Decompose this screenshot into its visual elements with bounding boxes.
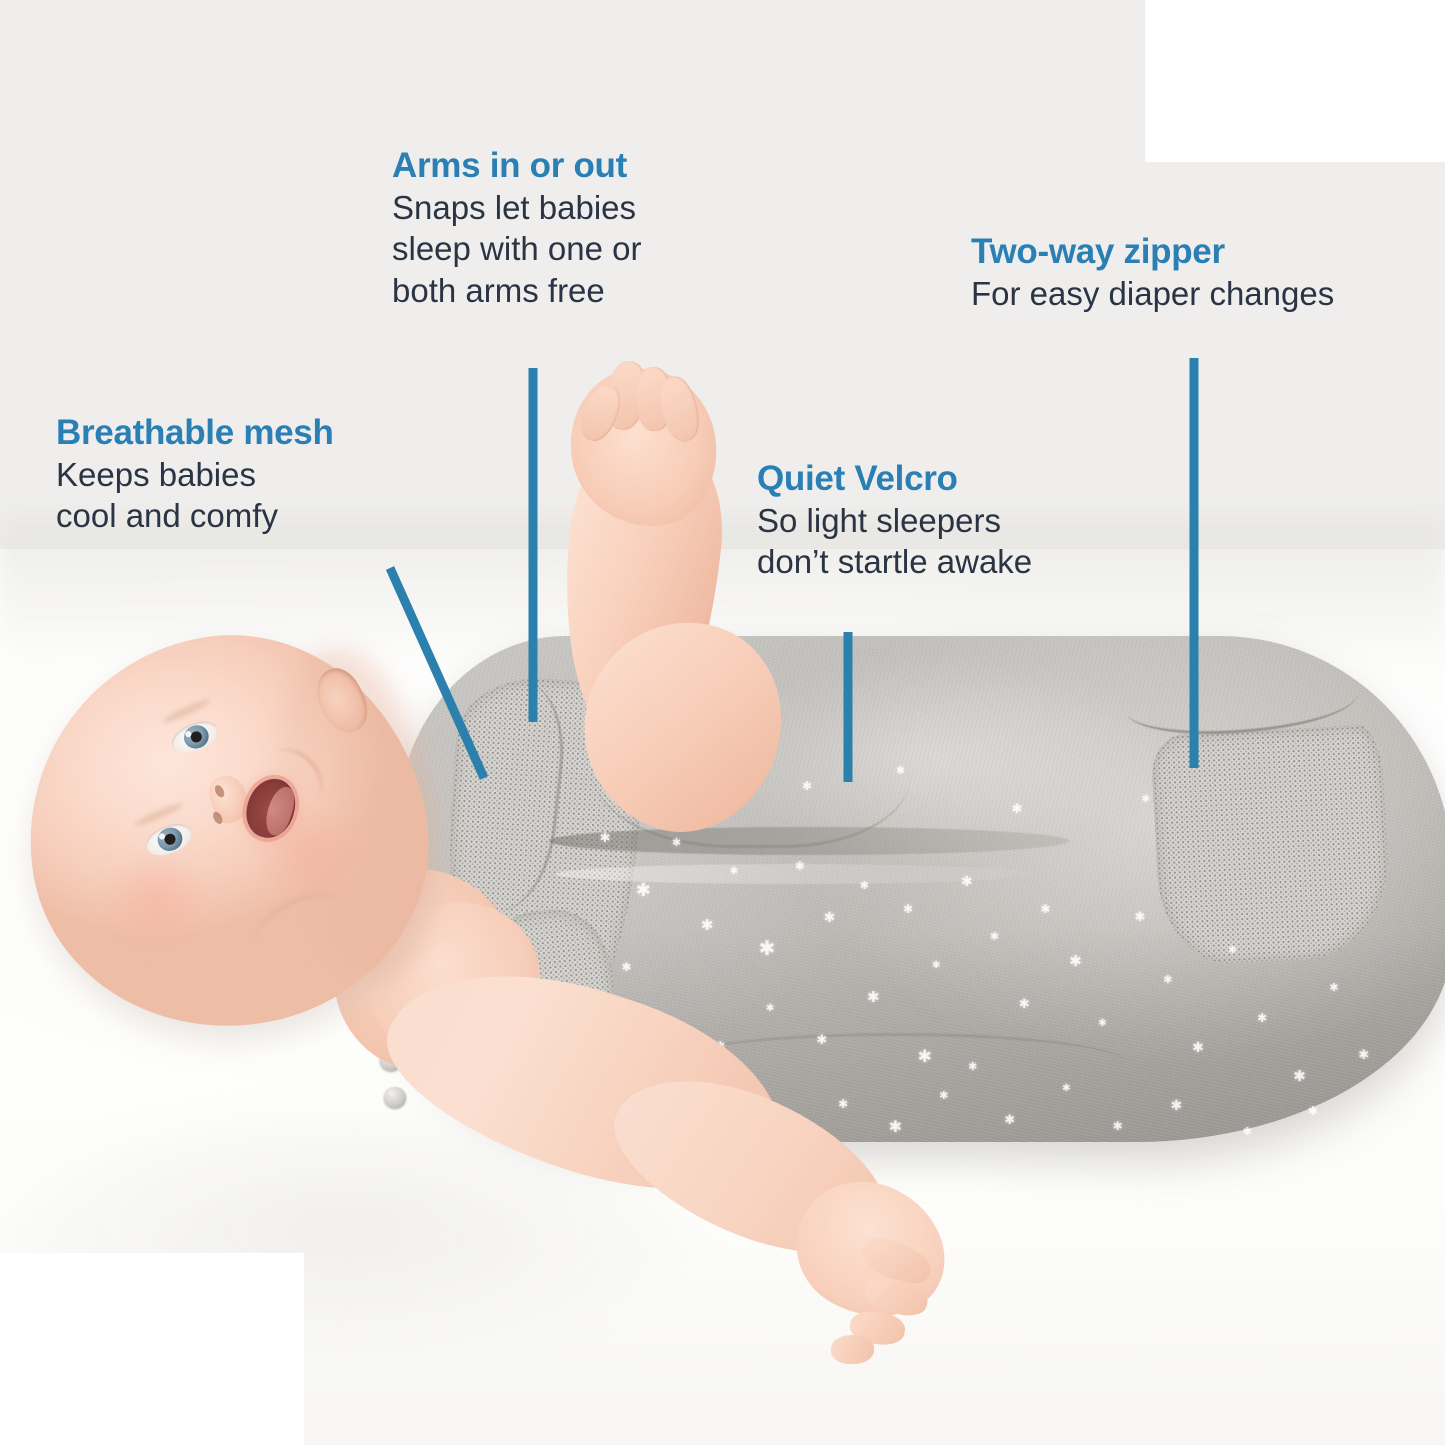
star-motif: ✱	[816, 1033, 827, 1046]
callout-line: For easy diaper changes	[971, 275, 1334, 312]
callout-line: both arms free	[392, 272, 605, 309]
star-motif: ✱	[1228, 946, 1236, 956]
star-motif: ✱	[939, 1091, 948, 1102]
star-motif: ✱	[759, 939, 776, 959]
star-motif: ✱	[1192, 1040, 1204, 1054]
star-motif: ✱	[1257, 1012, 1267, 1024]
star-motif: ✱	[1004, 1113, 1015, 1126]
callout-quiet-velcro: Quiet Velcro So light sleepers don’t sta…	[757, 459, 1032, 583]
star-motif: ✱	[730, 867, 738, 877]
star-motif: ✱	[1113, 1120, 1123, 1132]
star-motif: ✱	[672, 838, 681, 849]
star-motif: ✱	[1142, 795, 1150, 805]
callout-title-breathable-mesh: Breathable mesh	[56, 413, 334, 452]
star-motif: ✱	[838, 1098, 848, 1110]
star-motif: ✱	[961, 874, 973, 888]
star-motif: ✱	[766, 1004, 774, 1014]
callout-breathable-mesh: Breathable mesh Keeps babies cool and co…	[56, 413, 334, 537]
star-motif: ✱	[1019, 997, 1030, 1010]
star-motif: ✱	[918, 1048, 932, 1065]
snap-fastener	[384, 1087, 406, 1109]
waist-seam	[549, 827, 1069, 856]
star-motif: ✱	[860, 881, 869, 892]
callout-title-quiet-velcro: Quiet Velcro	[757, 459, 1032, 498]
star-motif: ✱	[1163, 975, 1172, 986]
callout-line: Keeps babies	[56, 456, 256, 493]
star-motif: ✱	[867, 990, 880, 1005]
star-motif: ✱	[1040, 903, 1050, 915]
star-motif: ✱	[896, 766, 905, 777]
star-motif: ✱	[1358, 1048, 1369, 1061]
star-motif: ✱	[621, 961, 631, 973]
star-motif: ✱	[1098, 1019, 1106, 1029]
star-motif: ✱	[1134, 910, 1145, 923]
star-motif: ✱	[636, 881, 651, 899]
star-motif: ✱	[1170, 1098, 1182, 1112]
star-motif: ✱	[903, 903, 913, 915]
mesh-panel-right	[1150, 724, 1393, 967]
callout-two-way-zipper: Two-way zipper For easy diaper changes	[971, 232, 1334, 314]
feature-callout-infographic: ✱✱✱✱✱✱✱✱✱✱✱✱✱✱✱✱✱✱✱✱✱✱✱✱✱✱✱✱✱✱✱✱✱✱✱✱✱✱✱✱…	[0, 0, 1445, 1445]
star-motif: ✱	[990, 932, 999, 943]
callout-title-two-way-zipper: Two-way zipper	[971, 232, 1334, 271]
star-motif: ✱	[824, 910, 836, 924]
star-motif: ✱	[600, 831, 611, 844]
callout-body-breathable-mesh: Keeps babies cool and comfy	[56, 454, 334, 537]
product-photo: ✱✱✱✱✱✱✱✱✱✱✱✱✱✱✱✱✱✱✱✱✱✱✱✱✱✱✱✱✱✱✱✱✱✱✱✱✱✱✱✱…	[0, 0, 1445, 1445]
star-motif: ✱	[1308, 1105, 1318, 1117]
star-motif: ✱	[1069, 954, 1082, 969]
callout-title-arms-in-or-out: Arms in or out	[392, 146, 641, 185]
cloud-decoration-top-right	[1145, 0, 1445, 162]
star-motif: ✱	[802, 780, 812, 792]
star-motif: ✱	[1293, 1069, 1306, 1084]
baby-cheek	[87, 842, 221, 961]
callout-line: Snaps let babies	[392, 189, 636, 226]
star-motif: ✱	[795, 860, 805, 872]
callout-body-two-way-zipper: For easy diaper changes	[971, 273, 1334, 314]
callout-body-quiet-velcro: So light sleepers don’t startle awake	[757, 500, 1032, 583]
star-motif: ✱	[1329, 983, 1338, 994]
callout-line: So light sleepers	[757, 502, 1001, 539]
callout-line: cool and comfy	[56, 497, 278, 534]
callout-body-arms-in-or-out: Snaps let babies sleep with one or both …	[392, 187, 641, 311]
star-motif: ✱	[932, 961, 940, 971]
star-motif: ✱	[1062, 1084, 1070, 1094]
star-motif: ✱	[889, 1120, 902, 1136]
star-motif: ✱	[701, 918, 714, 933]
callout-line: don’t startle awake	[757, 543, 1032, 580]
callout-line: sleep with one or	[392, 230, 641, 267]
cloud-decoration-bottom-left	[0, 1253, 304, 1445]
baby-eye	[167, 716, 221, 759]
star-motif: ✱	[968, 1062, 977, 1073]
callout-arms-in-or-out: Arms in or out Snaps let babies sleep wi…	[392, 146, 641, 311]
star-motif: ✱	[1012, 802, 1023, 815]
star-motif: ✱	[1243, 1127, 1252, 1138]
